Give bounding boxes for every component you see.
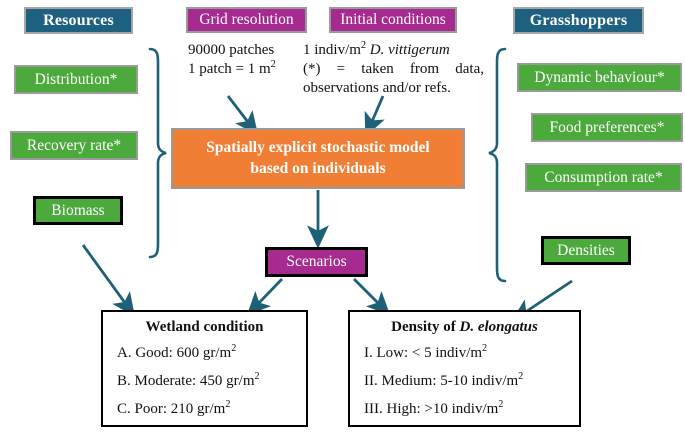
- attribute-biomass: Biomass: [33, 196, 123, 225]
- grid-resolution-note-line2-sup: 2: [271, 59, 276, 70]
- attribute-food-preferences-label: Food preferences*: [550, 119, 665, 136]
- attribute-food-preferences: Food preferences*: [531, 113, 683, 142]
- category-header-grasshoppers-label: Grasshoppers: [530, 12, 628, 30]
- parameter-grid-resolution-label: Grid resolution: [199, 11, 293, 28]
- outcome-density-item-iii-sup: 2: [498, 399, 503, 410]
- attribute-distribution-label: Distribution*: [35, 71, 118, 88]
- diagram-canvas: Resources Distribution* Recovery rate* B…: [0, 0, 685, 436]
- arrow-scenarios-to-wetland: [255, 279, 282, 307]
- initial-conditions-note-line1: 1 indiv/m2 D. vittigerum: [303, 41, 484, 60]
- grid-resolution-note-line1: 90000 patches: [188, 41, 318, 60]
- category-header-resources-label: Resources: [43, 12, 114, 30]
- outcome-density-item-ii-text: Medium: 5-10 indiv/m: [382, 373, 519, 389]
- outcome-density-title: Density of D. elongatus: [360, 319, 569, 336]
- arrow-biomass-to-wetland: [83, 245, 128, 307]
- initial-conditions-note-line3: observations and/or refs.: [303, 79, 484, 98]
- outcome-density-item-iii-text: High: >10 indiv/m: [387, 401, 499, 417]
- attribute-densities-label: Densities: [557, 242, 615, 259]
- outcome-density-item-i-text: Low: < 5 indiv/m: [377, 345, 483, 361]
- left-brace: [150, 49, 166, 257]
- attribute-dynamic-behaviour-label: Dynamic behaviour*: [534, 69, 664, 86]
- category-header-grasshoppers: Grasshoppers: [513, 7, 644, 34]
- arrow-grid-to-model: [228, 96, 251, 126]
- grid-resolution-note: 90000 patches 1 patch = 1 m2: [188, 41, 318, 79]
- outcome-wetland-item-b-key: B.: [117, 373, 131, 389]
- outcome-wetland-item-c-sup: 2: [225, 399, 230, 410]
- outcome-density-item-iii: III. High: >10 indiv/m2: [364, 401, 569, 418]
- outcome-wetland-item-a-text: Good: 600 gr/m: [135, 345, 231, 361]
- outcome-wetland-item-b-sup: 2: [255, 371, 260, 382]
- attribute-densities: Densities: [541, 236, 631, 265]
- outcome-wetland-item-a-sup: 2: [231, 343, 236, 354]
- scenarios-box-label: Scenarios: [286, 253, 346, 270]
- outcome-density-item-i-key: I.: [364, 345, 373, 361]
- outcome-density-item-i-sup: 2: [482, 343, 487, 354]
- outcome-wetland-condition: Wetland condition A. Good: 600 gr/m2 B. …: [101, 310, 308, 427]
- initial-conditions-species-name: D. vittigerum: [370, 42, 450, 58]
- attribute-recovery-rate: Recovery rate*: [10, 131, 138, 160]
- outcome-wetland-title: Wetland condition: [113, 319, 296, 336]
- model-box-line2: based on individuals: [250, 159, 385, 180]
- outcome-wetland-item-a-key: A.: [117, 345, 132, 361]
- outcome-density-elongatus: Density of D. elongatus I. Low: < 5 indi…: [348, 310, 581, 427]
- parameter-initial-conditions: Initial conditions: [329, 7, 457, 33]
- outcome-density-item-iii-key: III.: [364, 401, 383, 417]
- grid-resolution-note-line2: 1 patch = 1 m2: [188, 60, 318, 79]
- attribute-recovery-rate-label: Recovery rate*: [27, 137, 121, 154]
- initial-conditions-density-text: 1 indiv/m: [303, 42, 361, 58]
- attribute-distribution: Distribution*: [14, 65, 138, 94]
- initial-conditions-note: 1 indiv/m2 D. vittigerum (*) = taken fro…: [303, 41, 484, 99]
- outcome-density-item-ii-key: II.: [364, 373, 378, 389]
- attribute-biomass-label: Biomass: [51, 202, 104, 219]
- category-header-resources: Resources: [24, 7, 133, 34]
- parameter-grid-resolution: Grid resolution: [186, 7, 307, 33]
- arrow-scenarios-to-density: [354, 279, 382, 307]
- right-brace: [489, 49, 505, 281]
- outcome-wetland-item-b-text: Moderate: 450 gr/m: [135, 373, 255, 389]
- outcome-density-item-ii-sup: 2: [518, 371, 523, 382]
- attribute-dynamic-behaviour: Dynamic behaviour*: [517, 63, 682, 92]
- outcome-density-item-i: I. Low: < 5 indiv/m2: [364, 345, 569, 362]
- outcome-density-title-prefix: Density of: [391, 319, 459, 335]
- outcome-wetland-item-a: A. Good: 600 gr/m2: [117, 345, 296, 362]
- outcome-wetland-item-c-text: Poor: 210 gr/m: [135, 401, 226, 417]
- scenarios-box: Scenarios: [265, 247, 368, 277]
- initial-conditions-density-sup: 2: [361, 40, 366, 51]
- outcome-wetland-item-b: B. Moderate: 450 gr/m2: [117, 373, 296, 390]
- parameter-initial-conditions-label: Initial conditions: [340, 11, 445, 28]
- outcome-wetland-item-c: C. Poor: 210 gr/m2: [117, 401, 296, 418]
- model-box: Spatially explicit stochastic model base…: [171, 128, 465, 189]
- outcome-density-title-species: D. elongatus: [459, 319, 537, 335]
- attribute-consumption-rate: Consumption rate*: [525, 163, 682, 192]
- outcome-wetland-item-c-key: C.: [117, 401, 131, 417]
- outcome-density-item-ii: II. Medium: 5-10 indiv/m2: [364, 373, 569, 390]
- model-box-line1: Spatially explicit stochastic model: [206, 138, 429, 159]
- attribute-consumption-rate-label: Consumption rate*: [544, 169, 662, 186]
- arrow-initial-to-model: [370, 96, 383, 126]
- grid-resolution-note-line2-text: 1 patch = 1 m: [188, 61, 271, 77]
- initial-conditions-note-line2: (*) = taken from data,: [303, 60, 484, 79]
